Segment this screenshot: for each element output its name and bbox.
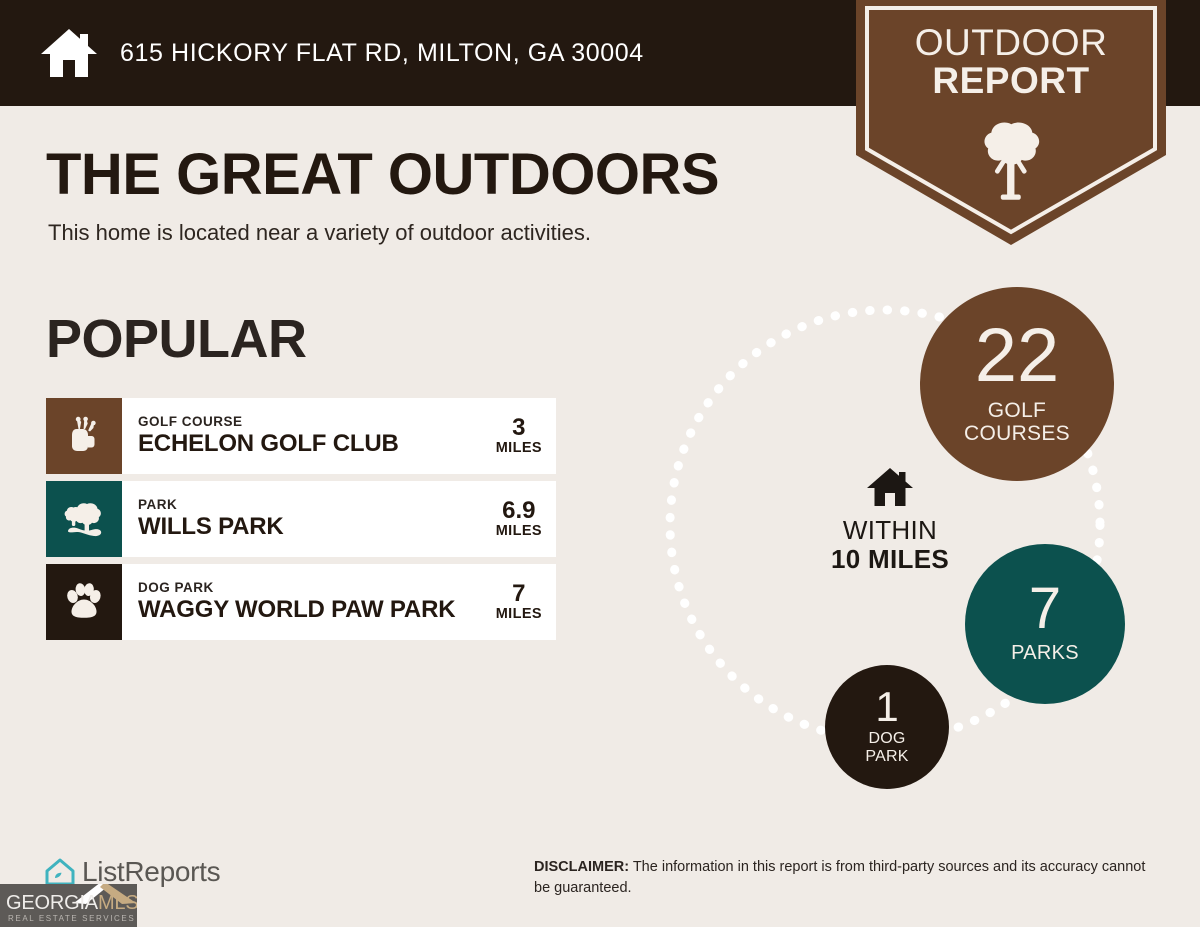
paw-print-icon [46, 564, 122, 640]
stat-count: 1 [875, 688, 898, 726]
list-item-labels: GOLF COURSE ECHELON GOLF CLUB [138, 414, 399, 457]
list-item-name: ECHELON GOLF CLUB [138, 430, 399, 458]
popular-heading: POPULAR [46, 312, 307, 366]
mls-primary-text: GEORGIA [6, 892, 98, 914]
list-item-distance: 3 MILES [488, 415, 542, 456]
mls-wordmark: GEORGIAMLS [6, 893, 137, 913]
stat-count: 7 [1029, 583, 1061, 635]
list-item-category: PARK [138, 497, 284, 513]
outdoor-report-badge: OUTDOOR REPORT [856, 0, 1166, 245]
home-icon [866, 466, 914, 508]
page-title: THE GREAT OUTDOORS [46, 146, 719, 204]
list-item-labels: PARK WILLS PARK [138, 497, 284, 540]
stat-bubble-parks[interactable]: 7 PARKS [965, 544, 1125, 704]
list-item-body: DOG PARK WAGGY WORLD PAW PARK 7 MILES [122, 564, 556, 640]
list-item-body: PARK WILLS PARK 6.9 MILES [122, 481, 556, 557]
within-line-2: 10 MILES [795, 545, 985, 574]
distance-unit: MILES [496, 607, 542, 623]
trees-icon [46, 481, 122, 557]
house-outline-icon [44, 857, 76, 887]
list-item-distance: 6.9 MILES [488, 498, 542, 539]
stat-label-line-2: COURSES [964, 422, 1070, 445]
distance-unit: MILES [496, 524, 542, 540]
popular-list: GOLF COURSE ECHELON GOLF CLUB 3 MILES PA… [46, 398, 556, 647]
distance-value: 7 [496, 581, 542, 606]
within-line-1: WITHIN [795, 516, 985, 545]
within-radius-label: WITHIN 10 MILES [795, 466, 985, 574]
list-item-category: DOG PARK [138, 580, 455, 596]
list-item[interactable]: PARK WILLS PARK 6.9 MILES [46, 481, 556, 557]
golf-bag-icon [46, 398, 122, 474]
stat-label: DOG PARK [865, 730, 908, 766]
header-content: 615 HICKORY FLAT RD, MILTON, GA 30004 [40, 0, 644, 106]
list-item-body: GOLF COURSE ECHELON GOLF CLUB 3 MILES [122, 398, 556, 474]
stat-label-line-1: GOLF [988, 399, 1046, 422]
page-subtitle: This home is located near a variety of o… [48, 220, 591, 246]
proximity-diagram: WITHIN 10 MILES 22 GOLF COURSES 7 PARKS … [610, 280, 1190, 810]
stat-bubble-golf-courses[interactable]: 22 GOLF COURSES [920, 287, 1114, 481]
stat-label: PARKS [1011, 642, 1079, 665]
stat-label-line-1: DOG [868, 730, 905, 747]
list-item-name: WAGGY WORLD PAW PARK [138, 596, 455, 624]
stat-label-line-2: PARK [865, 748, 908, 765]
home-icon [40, 27, 98, 79]
mls-accent-text: MLS [98, 892, 137, 914]
list-item[interactable]: GOLF COURSE ECHELON GOLF CLUB 3 MILES [46, 398, 556, 474]
stat-bubble-dog-park[interactable]: 1 DOG PARK [825, 665, 949, 789]
list-item-labels: DOG PARK WAGGY WORLD PAW PARK [138, 580, 455, 623]
property-address: 615 HICKORY FLAT RD, MILTON, GA 30004 [120, 39, 644, 68]
stat-count: 22 [975, 322, 1060, 390]
disclaimer-label: DISCLAIMER: [534, 859, 629, 875]
list-item[interactable]: DOG PARK WAGGY WORLD PAW PARK 7 MILES [46, 564, 556, 640]
list-item-distance: 7 MILES [488, 581, 542, 622]
distance-unit: MILES [496, 441, 542, 457]
stat-label: GOLF COURSES [964, 399, 1070, 446]
distance-value: 6.9 [496, 498, 542, 523]
distance-value: 3 [496, 415, 542, 440]
mls-tagline: REAL ESTATE SERVICES [8, 915, 135, 923]
disclaimer: DISCLAIMER: The information in this repo… [534, 857, 1159, 899]
list-item-name: WILLS PARK [138, 513, 284, 541]
georgia-mls-logo: GEORGIAMLS REAL ESTATE SERVICES [0, 884, 137, 927]
list-item-category: GOLF COURSE [138, 414, 399, 430]
